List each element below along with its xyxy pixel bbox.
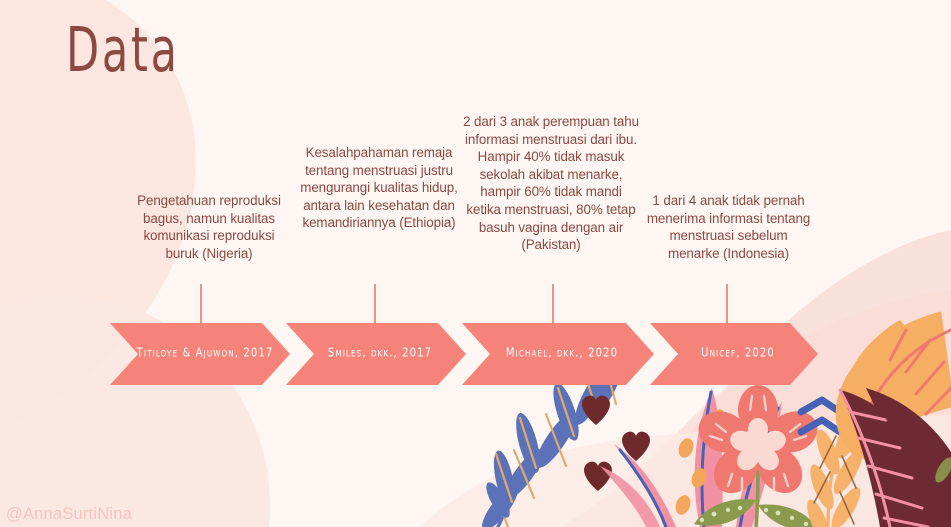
watermark-handle: @AnnaSurtiNina [6,505,132,524]
pink-agave-icon [600,388,782,527]
timeline-segment-label-2: Smiles, dkk., 2017 [306,345,454,360]
callout-text-3: 2 dari 3 anak perempuan tahu informasi m… [462,113,640,254]
slide-canvas: Data Pengetahuan reproduksi bagus, namun… [0,0,951,527]
orange-fern-icon [803,410,870,527]
callout-text-2: Kesalahpahaman remaja tentang menstruasi… [296,144,462,232]
timeline-segment-label-1: Titiloye & Ajuwon, 2017 [130,345,280,360]
dot-cluster-icon [673,407,727,516]
timeline-segment-label-4: Unicef, 2020 [670,345,806,360]
blue-accent-icon [482,479,514,521]
callout-text-1: Pengetahuan reproduksi bagus, namun kual… [128,192,290,262]
coral-flower-icon [693,385,824,527]
timeline-banner: Titiloye & Ajuwon, 2017 Smiles, dkk., 20… [0,318,951,390]
olive-sprig-icon [932,455,951,485]
blue-zigzag-icon [801,400,885,434]
timeline-segment-label-3: Michael, dkk., 2020 [482,345,642,360]
callout-text-4: 1 dari 4 anak tidak pernah menerima info… [646,192,811,262]
heart-icon-group [582,396,650,491]
page-title: Data [66,18,180,84]
maroon-leaf-icon [840,388,951,527]
